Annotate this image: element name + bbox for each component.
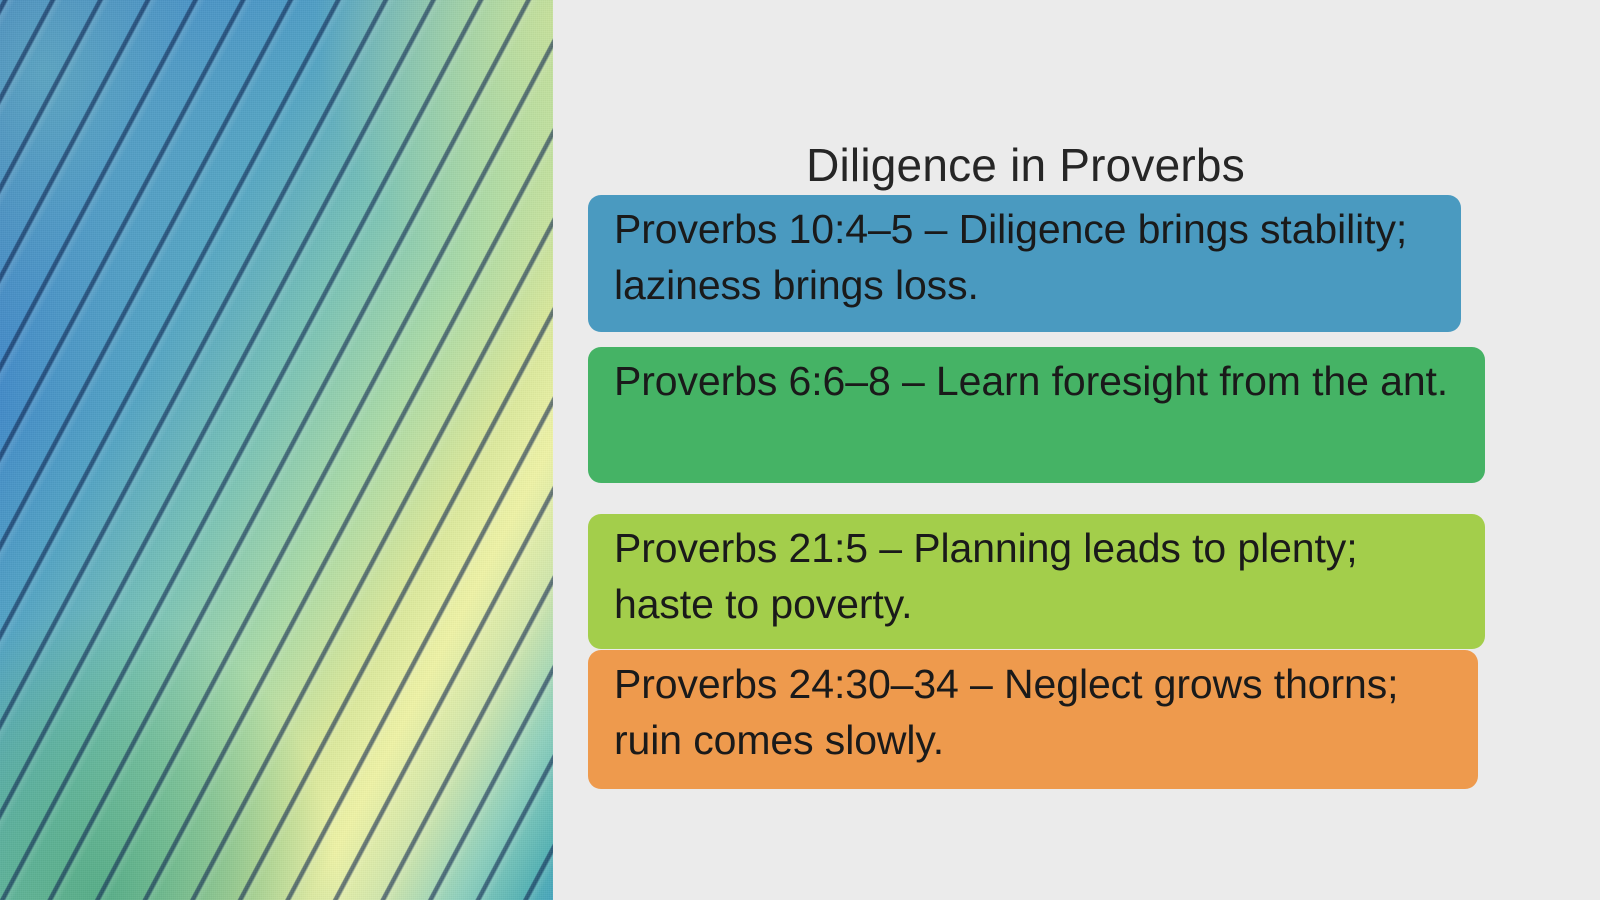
decorative-image-panel <box>0 0 553 900</box>
slide-content-area: Diligence in Proverbs Proverbs 10:4–5 – … <box>553 0 1600 900</box>
texture-noise-layer <box>0 0 553 900</box>
proverb-box-3[interactable]: Proverbs 21:5 – Planning leads to plenty… <box>588 514 1485 649</box>
presentation-slide: Diligence in Proverbs Proverbs 10:4–5 – … <box>0 0 1600 900</box>
proverb-box-4[interactable]: Proverbs 24:30–34 – Neglect grows thorns… <box>588 650 1478 789</box>
proverb-box-2[interactable]: Proverbs 6:6–8 – Learn foresight from th… <box>588 347 1485 483</box>
page-title: Diligence in Proverbs <box>553 140 1498 191</box>
proverb-box-1[interactable]: Proverbs 10:4–5 – Diligence brings stabi… <box>588 195 1461 332</box>
